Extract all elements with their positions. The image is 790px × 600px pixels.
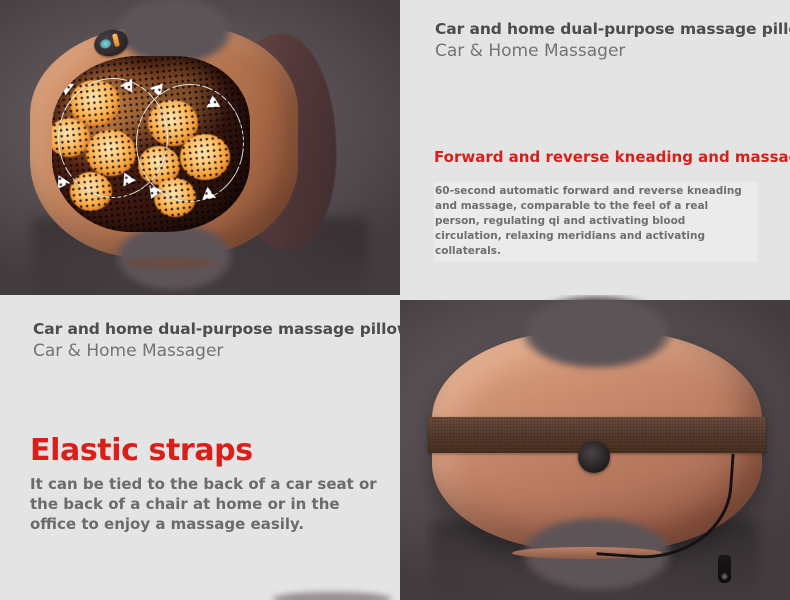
product-photo-back-panel — [400, 295, 790, 600]
power-plug-connector — [718, 555, 731, 583]
heat-node — [70, 172, 112, 211]
feature-text-panel-kneading: Car and home dual-purpose massage pillow… — [400, 0, 790, 295]
pillow-waist-bottom-cut — [114, 222, 234, 292]
rotation-arrow — [198, 187, 216, 205]
feature-heading: Elastic straps — [30, 436, 390, 466]
feature-text-panel-straps: Car and home dual-purpose massage pillow… — [0, 295, 400, 600]
rotation-ring-left — [58, 78, 168, 198]
feature-heading-block: Elastic straps It can be tied to the bac… — [30, 436, 390, 535]
heat-node — [86, 130, 136, 176]
feature-heading: Forward and reverse kneading and massage — [434, 148, 790, 166]
feature-body-block: 60-second automatic forward and reverse … — [434, 182, 757, 262]
pillow-mesh-face — [52, 56, 250, 232]
heat-node — [70, 80, 120, 126]
heat-node — [154, 178, 196, 217]
teal-led-icon — [99, 38, 112, 49]
product-subtitle: Car & Home Massager — [33, 341, 400, 361]
heat-node — [52, 118, 90, 157]
rotation-arrow — [118, 170, 136, 187]
rotation-arrow — [206, 95, 223, 113]
product-photo-front-panel — [0, 0, 400, 295]
rotation-arrow — [120, 75, 138, 92]
massage-pillow-back-image — [432, 331, 762, 551]
product-title-block: Car and home dual-purpose massage pillow… — [435, 20, 790, 61]
product-infographic: Car and home dual-purpose massage pillow… — [0, 0, 790, 600]
product-subtitle: Car & Home Massager — [435, 41, 790, 61]
power-cable — [596, 445, 734, 565]
feature-description: 60-second automatic forward and reverse … — [434, 182, 757, 262]
rotation-arrow — [52, 175, 70, 193]
feature-heading-block: Forward and reverse kneading and massage — [434, 148, 790, 166]
rotation-arrow — [56, 77, 74, 95]
feature-description: It can be tied to the back of a car seat… — [30, 475, 390, 535]
product-title: Car and home dual-purpose massage pillow — [435, 20, 790, 38]
product-title-block: Car and home dual-purpose massage pillow… — [33, 320, 400, 361]
rotation-arrow — [144, 181, 162, 199]
partial-product-shadow — [272, 592, 392, 600]
massage-pillow-front-image — [28, 22, 348, 262]
pillow-foot-shadow — [124, 258, 216, 268]
rotation-ring-right — [136, 84, 244, 202]
pillow-waist-top-cut — [522, 295, 672, 369]
heat-node — [180, 134, 230, 180]
heat-node — [138, 146, 180, 185]
rotation-arrow — [150, 79, 168, 97]
orange-led-icon — [112, 33, 120, 47]
product-title: Car and home dual-purpose massage pillow — [33, 320, 400, 338]
heat-node — [148, 100, 198, 146]
